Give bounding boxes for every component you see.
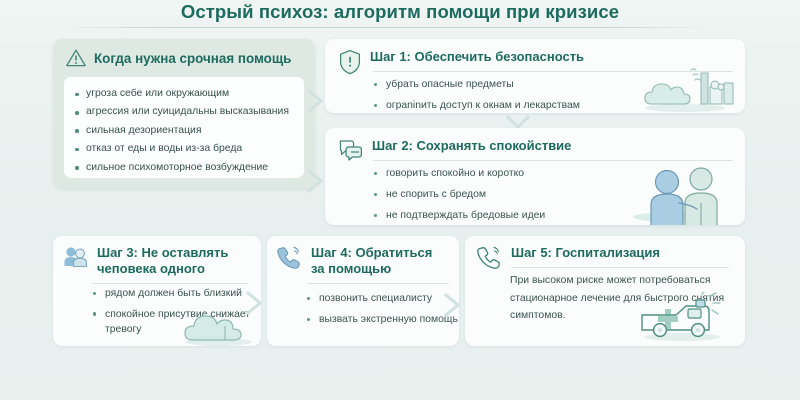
step-5-title: Шаг 5: Госпитализация	[511, 245, 660, 261]
two-persons-icon	[63, 245, 89, 269]
warning-heading: Когда нужна срочная помощь	[94, 51, 291, 66]
list-item: отказ от еды и воды из-за бреда	[64, 140, 304, 158]
list-item: спокойное присутвие снижает тревогу	[91, 307, 255, 338]
title-divider	[55, 27, 715, 28]
list-item: говорить спокойно и коротко	[372, 163, 545, 184]
step-card-5: Шаг 5: Госпитализация При высоком риске …	[465, 236, 745, 346]
step-4-divider	[307, 283, 449, 284]
arrow-step3-to-step4	[245, 290, 267, 316]
step-2-list: говорить спокойно и коротко не спорить с…	[372, 163, 545, 226]
step-4-title: Шаг 4: Обратиться за помощью	[311, 245, 446, 277]
warning-header: Когда нужна срочная помощь	[65, 48, 291, 68]
shield-alert-icon	[338, 49, 362, 75]
speech-bubbles-icon	[338, 138, 364, 163]
list-item: рядом должен быть близкий	[91, 286, 255, 302]
list-item: агрессия или суицидальны высказывания	[64, 103, 304, 121]
list-item: вызвать экстренную помощь	[305, 309, 458, 330]
list-item: сильная дезориентация	[64, 122, 304, 140]
step-2-title: Шаг 2: Сохранять спокойствие	[372, 138, 571, 154]
list-item: не подтверждать бредовые идеи	[372, 205, 545, 226]
step-card-3: Шаг 3: Не оставлять чеповека одного рядо…	[53, 236, 261, 346]
step-1-divider	[373, 71, 733, 72]
step-card-4: Шаг 4: Обратиться за помощью позвонить с…	[267, 236, 459, 346]
phone-ring-icon	[277, 245, 303, 269]
step-5-body: При высоком риске может потребоваться ст…	[510, 272, 725, 325]
step-2-divider	[373, 160, 733, 161]
step-4-list: позвонить специалисту вызвать экстренную…	[305, 288, 458, 330]
step-3-divider	[93, 283, 248, 284]
step-5-divider	[511, 267, 729, 268]
phone-ring-icon	[477, 245, 503, 269]
cloud-factory-illustration	[643, 61, 739, 113]
step-5-header: Шаг 5: Госпитализация	[477, 245, 660, 269]
list-item: угроза себе или окружающим	[64, 85, 304, 103]
infographic-canvas: Острый психоз: алгоритм помощи при кризи…	[0, 0, 800, 400]
step-4-header: Шаг 4: Обратиться за помощью	[277, 245, 446, 277]
step-card-1: Шаг 1: Обеспечить безопасность убрать оп…	[325, 39, 745, 113]
step-1-list: убрать опасные предметы ограninить досту…	[372, 74, 580, 116]
warning-list: угроза себе или окружающим агрессия или …	[64, 77, 304, 177]
list-item: сильное психомоторное возбуждение	[64, 159, 304, 177]
step-1-title: Шаг 1: Обеспечить безопасность	[370, 49, 584, 65]
step-card-2: Шаг 2: Сохранять спокойствие говорить сп…	[325, 128, 745, 225]
arrow-step4-to-step5	[443, 292, 465, 318]
list-item: убрать опасные предметы	[372, 74, 580, 95]
step-3-title: Шаг 3: Не оставлять чеповека одного	[97, 245, 255, 277]
step-3-header: Шаг 3: Не оставлять чеповека одного	[63, 245, 255, 277]
list-item: позвонить специалисту	[305, 288, 458, 309]
step-3-list: рядом должен быть близкий спокойное прис…	[91, 286, 255, 343]
list-item: не спорить с бредом	[372, 184, 545, 205]
warning-triangle-icon	[65, 48, 87, 68]
list-item: ограninить доступ к окнам и лекарствам	[372, 95, 580, 116]
two-people-illustration	[629, 159, 737, 225]
warning-panel: Когда нужна срочная помощь угроза себе и…	[53, 39, 315, 189]
page-title: Острый психоз: алгоритм помощи при кризи…	[0, 1, 800, 23]
warning-list-card: угроза себе или окружающим агрессия или …	[64, 77, 304, 178]
